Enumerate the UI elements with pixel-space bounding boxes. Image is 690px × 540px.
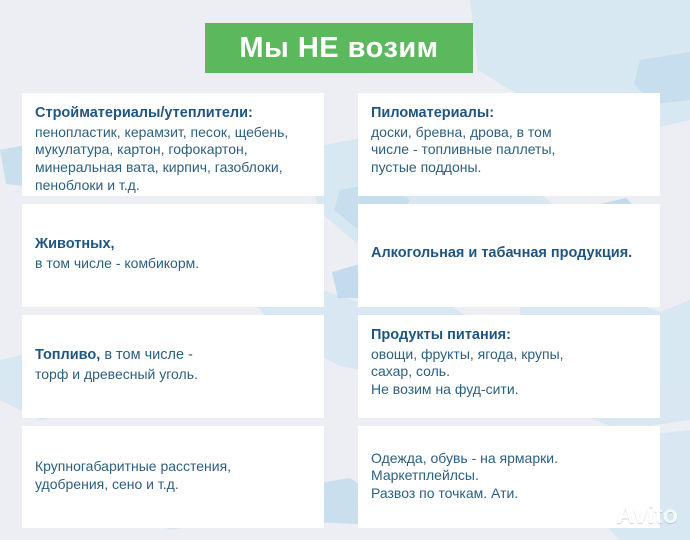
card-heading: Животных, xyxy=(35,236,311,254)
card-body-line: пенопластик, керамзит, песок, щебень, xyxy=(35,124,311,142)
card-body-line: торф и древесный уголь. xyxy=(35,366,311,384)
card-body-line: числе - топливные паллеты, xyxy=(371,141,647,159)
card-lumber: Пиломатериалы: доски, бревна, дрова, в т… xyxy=(358,93,660,196)
card-body: торф и древесный уголь. xyxy=(35,366,311,384)
card-body-line: овощи, фрукты, ягода, крупы, xyxy=(371,346,647,364)
card-body-line: Одежда, обувь - на ярмарки. xyxy=(371,450,647,468)
card-heading: Алкогольная и табачная продукция. xyxy=(371,245,647,263)
card-body: пенопластик, керамзит, песок, щебень, му… xyxy=(35,124,311,195)
title-banner: Мы НЕ возим xyxy=(205,23,473,73)
card-body-line: в том числе - комбикорм. xyxy=(35,255,311,273)
card-body-line: мукулатура, картон, гофокартон, xyxy=(35,141,311,159)
card-heading-line: Алкогольная и табачная xyxy=(371,245,547,261)
card-fuel: Топливо, в том числе - торф и древесный … xyxy=(22,315,324,418)
card-body-line: Маркетплейлсы. xyxy=(371,467,647,485)
card-body-line: Не возим на фуд-сити. xyxy=(371,381,647,399)
card-animals: Животных, в том числе - комбикорм. xyxy=(22,204,324,307)
page-title: Мы НЕ возим xyxy=(239,34,438,63)
card-food-products: Продукты питания: овощи, фрукты, ягода, … xyxy=(358,315,660,418)
card-body: в том числе - комбикорм. xyxy=(35,255,311,273)
card-body: овощи, фрукты, ягода, крупы, сахар, соль… xyxy=(371,346,647,399)
card-clothing-markets: Одежда, обувь - на ярмарки. Маркетплейлс… xyxy=(358,426,660,528)
card-building-materials: Стройматериалы/утеплители: пенопластик, … xyxy=(22,93,324,196)
card-heading-lead: Топливо, xyxy=(35,347,100,363)
card-body-line: доски, бревна, дрова, в том xyxy=(371,124,647,142)
card-heading: Продукты питания: xyxy=(371,327,647,345)
card-body-line: Крупногабаритные расстения, xyxy=(35,458,311,476)
card-alcohol-tobacco: Алкогольная и табачная продукция. xyxy=(358,204,660,307)
card-body-line: Развоз по точкам. Ати. xyxy=(371,485,647,503)
card-body: Одежда, обувь - на ярмарки. Маркетплейлс… xyxy=(371,450,647,503)
restrictions-grid: Стройматериалы/утеплители: пенопластик, … xyxy=(22,93,660,530)
card-body-line: пеноблоки и т.д. xyxy=(35,177,311,195)
card-heading-line: продукция. xyxy=(551,245,632,261)
card-body: доски, бревна, дрова, в том числе - топл… xyxy=(371,124,647,177)
card-body-line: минеральная вата, кирпич, газоблоки, xyxy=(35,159,311,177)
card-body: Крупногабаритные расстения, удобрения, с… xyxy=(35,458,311,493)
card-body-line: удобрения, сено и т.д. xyxy=(35,476,311,494)
card-heading: Стройматериалы/утеплители: xyxy=(35,105,311,123)
card-body-line: пустые поддоны. xyxy=(371,159,647,177)
card-heading-rest: в том числе - xyxy=(100,347,193,363)
card-oversized-plants: Крупногабаритные расстения, удобрения, с… xyxy=(22,426,324,528)
card-body-line: сахар, соль. xyxy=(371,363,647,381)
card-heading: Топливо, в том числе - xyxy=(35,347,311,365)
poster-canvas: Мы НЕ возим Стройматериалы/утеплители: п… xyxy=(0,0,690,540)
card-heading: Пиломатериалы: xyxy=(371,105,647,123)
